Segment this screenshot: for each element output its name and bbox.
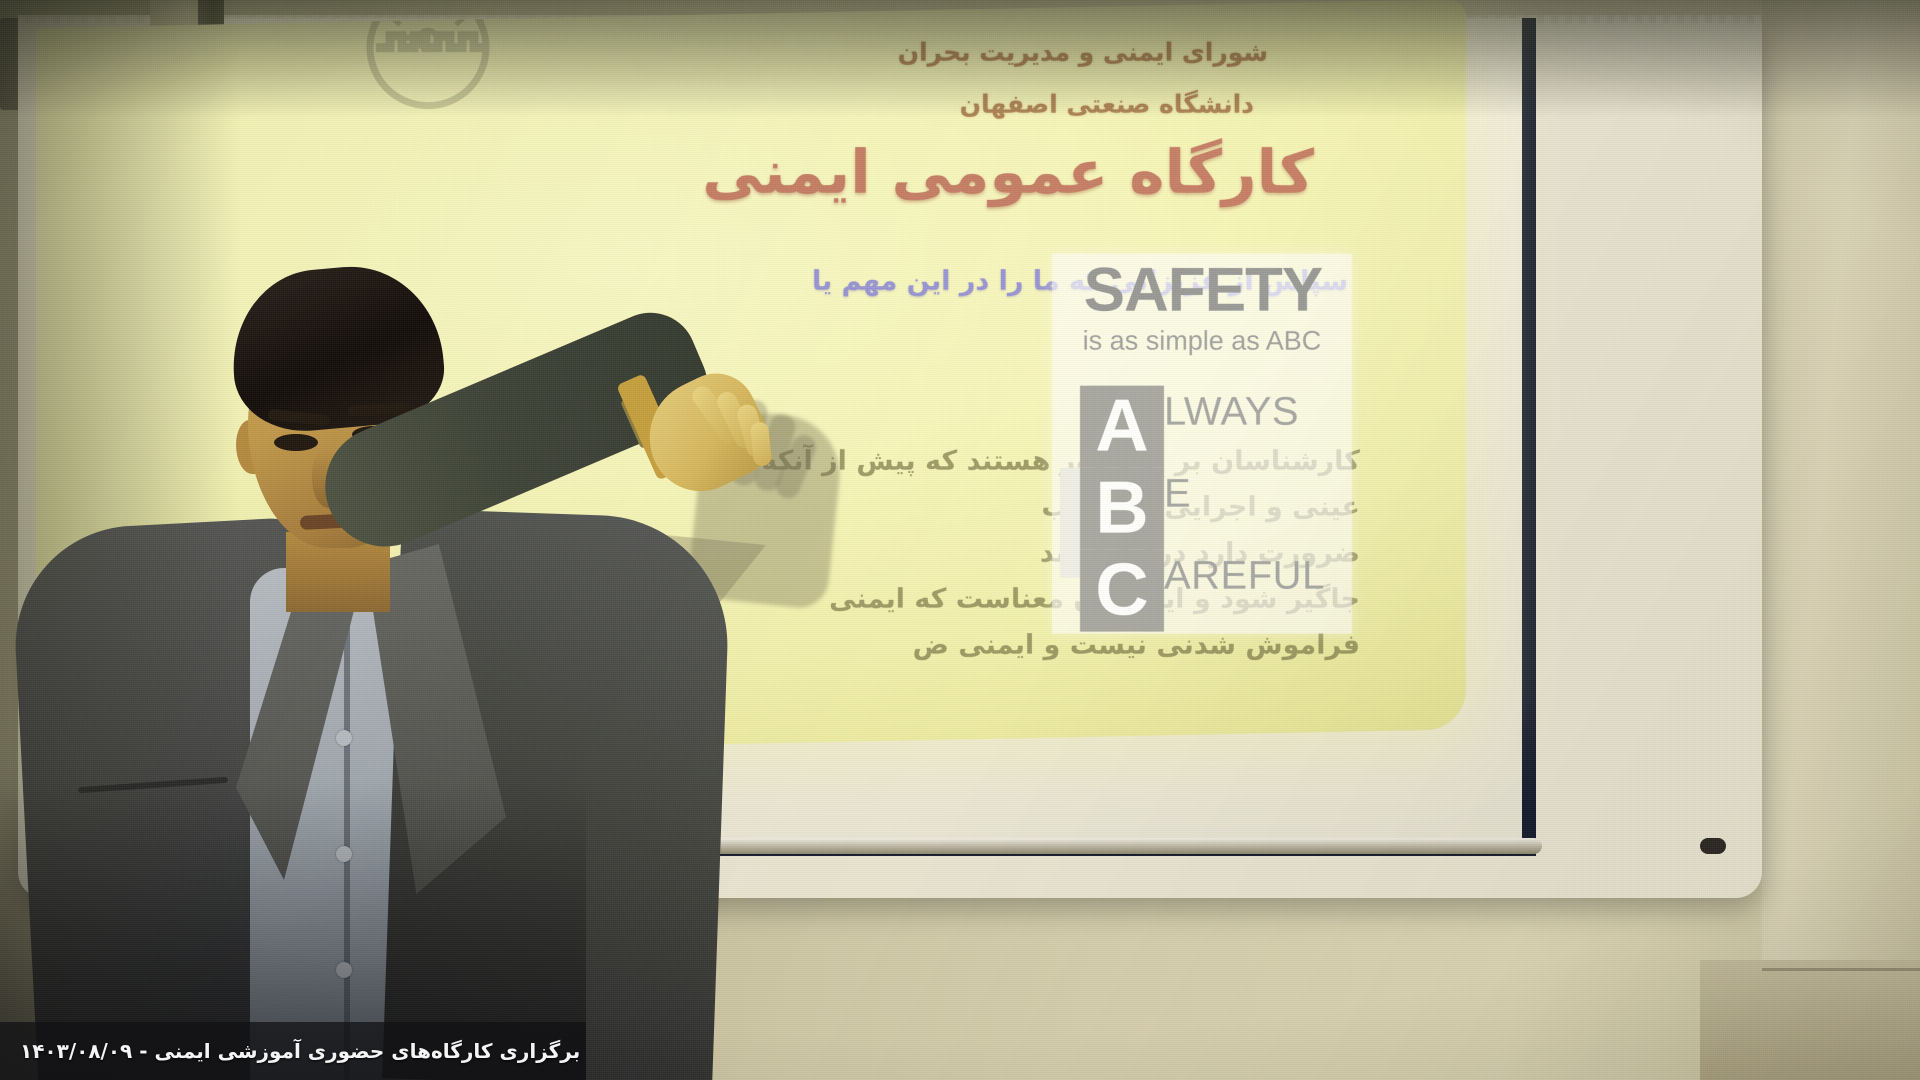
abc-row-c: C AREFUL [1052, 550, 1352, 632]
photo-canvas: شورای ایمنی و مدیریت بحران دانشگاه صنعتی… [0, 0, 1920, 1080]
caption-bar: برگزاری کارگاه‌های حضوری آموزشی ایمنی - … [0, 1022, 586, 1080]
shirt-button [336, 730, 352, 746]
abc-row-b: B E [1052, 468, 1352, 550]
slide-university-line: دانشگاه صنعتی اصفهان [960, 90, 1254, 119]
presenter [0, 300, 720, 1080]
safety-subheadline: is as simple as ABC [1052, 326, 1352, 357]
right-wall [1762, 0, 1920, 1080]
shirt-button [336, 962, 352, 978]
abc-row-a: A LWAYS [1052, 386, 1352, 468]
projection-screen-bar-cap [1700, 838, 1726, 854]
eye-left [274, 434, 318, 451]
abc-letter-b: B [1080, 468, 1164, 550]
floor-baseboard-line [1762, 968, 1920, 971]
abc-word-always: LWAYS [1164, 390, 1299, 435]
safety-headline: SAFETY [1054, 260, 1352, 322]
slide-organization-line: شورای ایمنی و مدیریت بحران [898, 38, 1268, 67]
floor [1700, 960, 1920, 1080]
abc-rows: A LWAYS B E C AREFUL [1052, 386, 1352, 632]
safety-abc-graphic: SAFETY is as simple as ABC A LWAYS B E [1052, 254, 1352, 634]
shirt-placket [344, 600, 350, 1080]
abc-letter-c: C [1080, 550, 1164, 632]
abc-word-be: E [1164, 472, 1191, 517]
caption-text: برگزاری کارگاه‌های حضوری آموزشی ایمنی - … [20, 1039, 580, 1063]
abc-word-careful: AREFUL [1164, 554, 1325, 599]
shirt-button [336, 846, 352, 862]
abc-letter-a: A [1080, 386, 1164, 468]
slide-title: کارگاه عمومی ایمنی [702, 138, 1314, 208]
